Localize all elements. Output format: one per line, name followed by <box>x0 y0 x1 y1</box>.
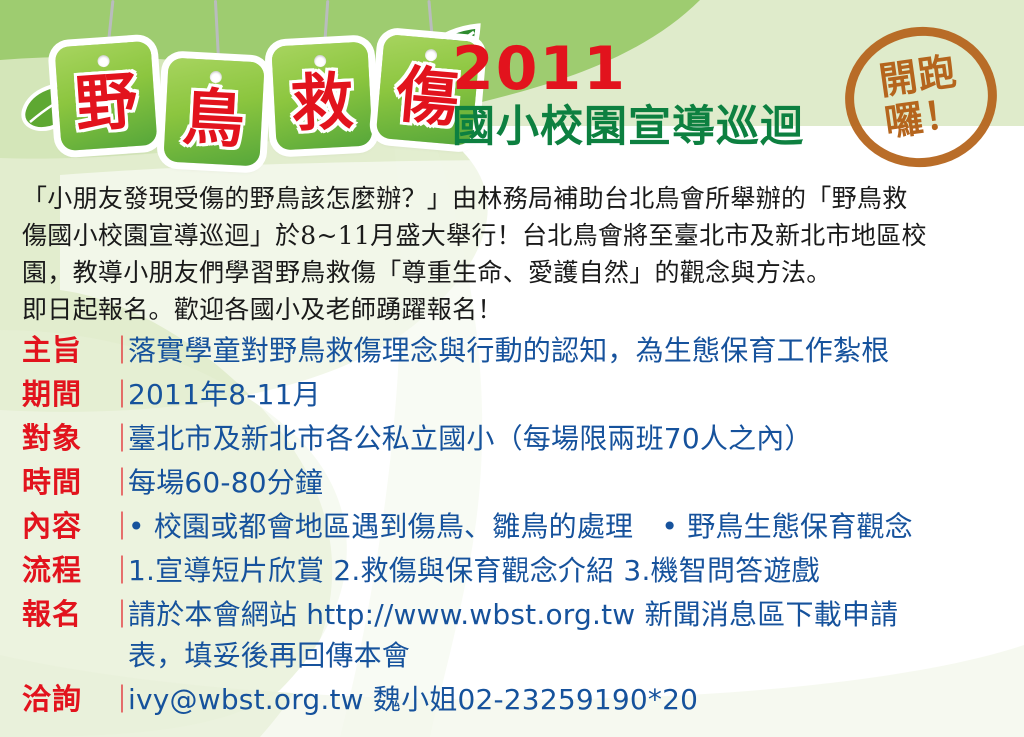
subtitle-title: 國小校園宣導巡迴 <box>452 92 804 154</box>
detail-row-purpose: 主旨 ｜ 落實學童對野鳥救傷理念與行動的認知，為生態保育工作紮根 <box>22 330 1012 371</box>
detail-row-content: 內容 ｜ • 校園或都會地區遇到傷鳥、雛鳥的處理 • 野鳥生態保育觀念 <box>22 506 1012 547</box>
logo-tag-2: 鳥 <box>163 58 264 167</box>
stamp-line-2: 囉！ <box>883 94 966 142</box>
intro-paragraph: 「小朋友發現受傷的野鳥該怎麼辦？」由林務局補助台北鳥會所舉辦的「野鳥救 傷國小校… <box>22 180 1012 328</box>
intro-line-4: 即日起報名。歡迎各國小及老師踴躍報名！ <box>22 291 1012 328</box>
detail-label-schedule: 流程 <box>22 550 108 591</box>
detail-separator: ｜ <box>108 330 128 371</box>
detail-separator: ｜ <box>108 374 128 415</box>
detail-label-audience: 對象 <box>22 418 108 459</box>
detail-row-contact: 洽詢 ｜ ivy@wbst.org.tw 魏小姐02-23259190*20 <box>22 679 1012 720</box>
detail-row-schedule: 流程 ｜ 1.宣導短片欣賞 2.救傷與保育觀念介紹 3.機智問答遊戲 <box>22 550 1012 591</box>
detail-label-period: 期間 <box>22 374 108 415</box>
detail-value-schedule: 1.宣導短片欣賞 2.救傷與保育觀念介紹 3.機智問答遊戲 <box>128 550 1012 591</box>
detail-separator: ｜ <box>108 550 128 591</box>
detail-value-registration: 請於本會網站 http://www.wbst.org.tw 新聞消息區下載申請 … <box>128 594 1012 676</box>
detail-value-period: 2011年8-11月 <box>128 374 1012 415</box>
detail-separator: ｜ <box>108 418 128 459</box>
logo-tag-1: 野 <box>54 41 157 151</box>
detail-row-duration: 時間 ｜ 每場60-80分鐘 <box>22 462 1012 503</box>
detail-value-content: • 校園或都會地區遇到傷鳥、雛鳥的處理 • 野鳥生態保育觀念 <box>128 506 1012 547</box>
detail-separator: ｜ <box>108 506 128 547</box>
detail-value-registration-line2: 表，填妥後再回傳本會 <box>128 635 1012 676</box>
stamp-badge: 開跑 囉！ <box>836 17 1006 177</box>
intro-line-2: 傷國小校園宣導巡迴」於8~11月盛大舉行！台北鳥會將至臺北市及新北市地區校 <box>22 217 1012 254</box>
intro-line-1: 「小朋友發現受傷的野鳥該怎麼辦？」由林務局補助台北鳥會所舉辦的「野鳥救 <box>22 180 1012 217</box>
detail-separator: ｜ <box>108 462 128 503</box>
detail-label-duration: 時間 <box>22 462 108 503</box>
detail-value-registration-line1: 請於本會網站 http://www.wbst.org.tw 新聞消息區下載申請 <box>128 598 898 631</box>
intro-line-3: 園，教導小朋友們學習野鳥救傷「尊重生命、愛護自然」的觀念與方法。 <box>22 254 1012 291</box>
logo-tag-glyph-2: 鳥 <box>164 78 264 161</box>
detail-value-purpose: 落實學童對野鳥救傷理念與行動的認知，為生態保育工作紮根 <box>128 330 1012 371</box>
details-list: 主旨 ｜ 落實學童對野鳥救傷理念與行動的認知，為生態保育工作紮根 期間 ｜ 20… <box>22 330 1012 723</box>
detail-separator: ｜ <box>108 679 128 720</box>
detail-separator: ｜ <box>108 594 128 635</box>
poster-header: 野 鳥 救 傷 2011 國小校園宣導巡迴 開跑 囉！ <box>0 0 1024 180</box>
detail-row-period: 期間 ｜ 2011年8-11月 <box>22 374 1012 415</box>
detail-label-registration: 報名 <box>22 594 108 635</box>
logo-tag-glyph-3: 救 <box>272 62 372 145</box>
detail-row-audience: 對象 ｜ 臺北市及新北市各公私立國小（每場限兩班70人之內） <box>22 418 1012 459</box>
logo-tag-3: 救 <box>271 42 372 151</box>
poster-root: 野 鳥 救 傷 2011 國小校園宣導巡迴 開跑 囉！ 「小朋友發現受傷的野鳥該… <box>0 0 1024 737</box>
detail-label-content: 內容 <box>22 506 108 547</box>
detail-label-purpose: 主旨 <box>22 330 108 371</box>
logo-tag-glyph-1: 野 <box>56 61 157 146</box>
detail-value-contact: ivy@wbst.org.tw 魏小姐02-23259190*20 <box>128 679 1012 720</box>
detail-value-duration: 每場60-80分鐘 <box>128 462 1012 503</box>
detail-label-contact: 洽詢 <box>22 679 108 720</box>
detail-row-registration: 報名 ｜ 請於本會網站 http://www.wbst.org.tw 新聞消息區… <box>22 594 1012 676</box>
detail-value-audience: 臺北市及新北市各公私立國小（每場限兩班70人之內） <box>128 418 1012 459</box>
